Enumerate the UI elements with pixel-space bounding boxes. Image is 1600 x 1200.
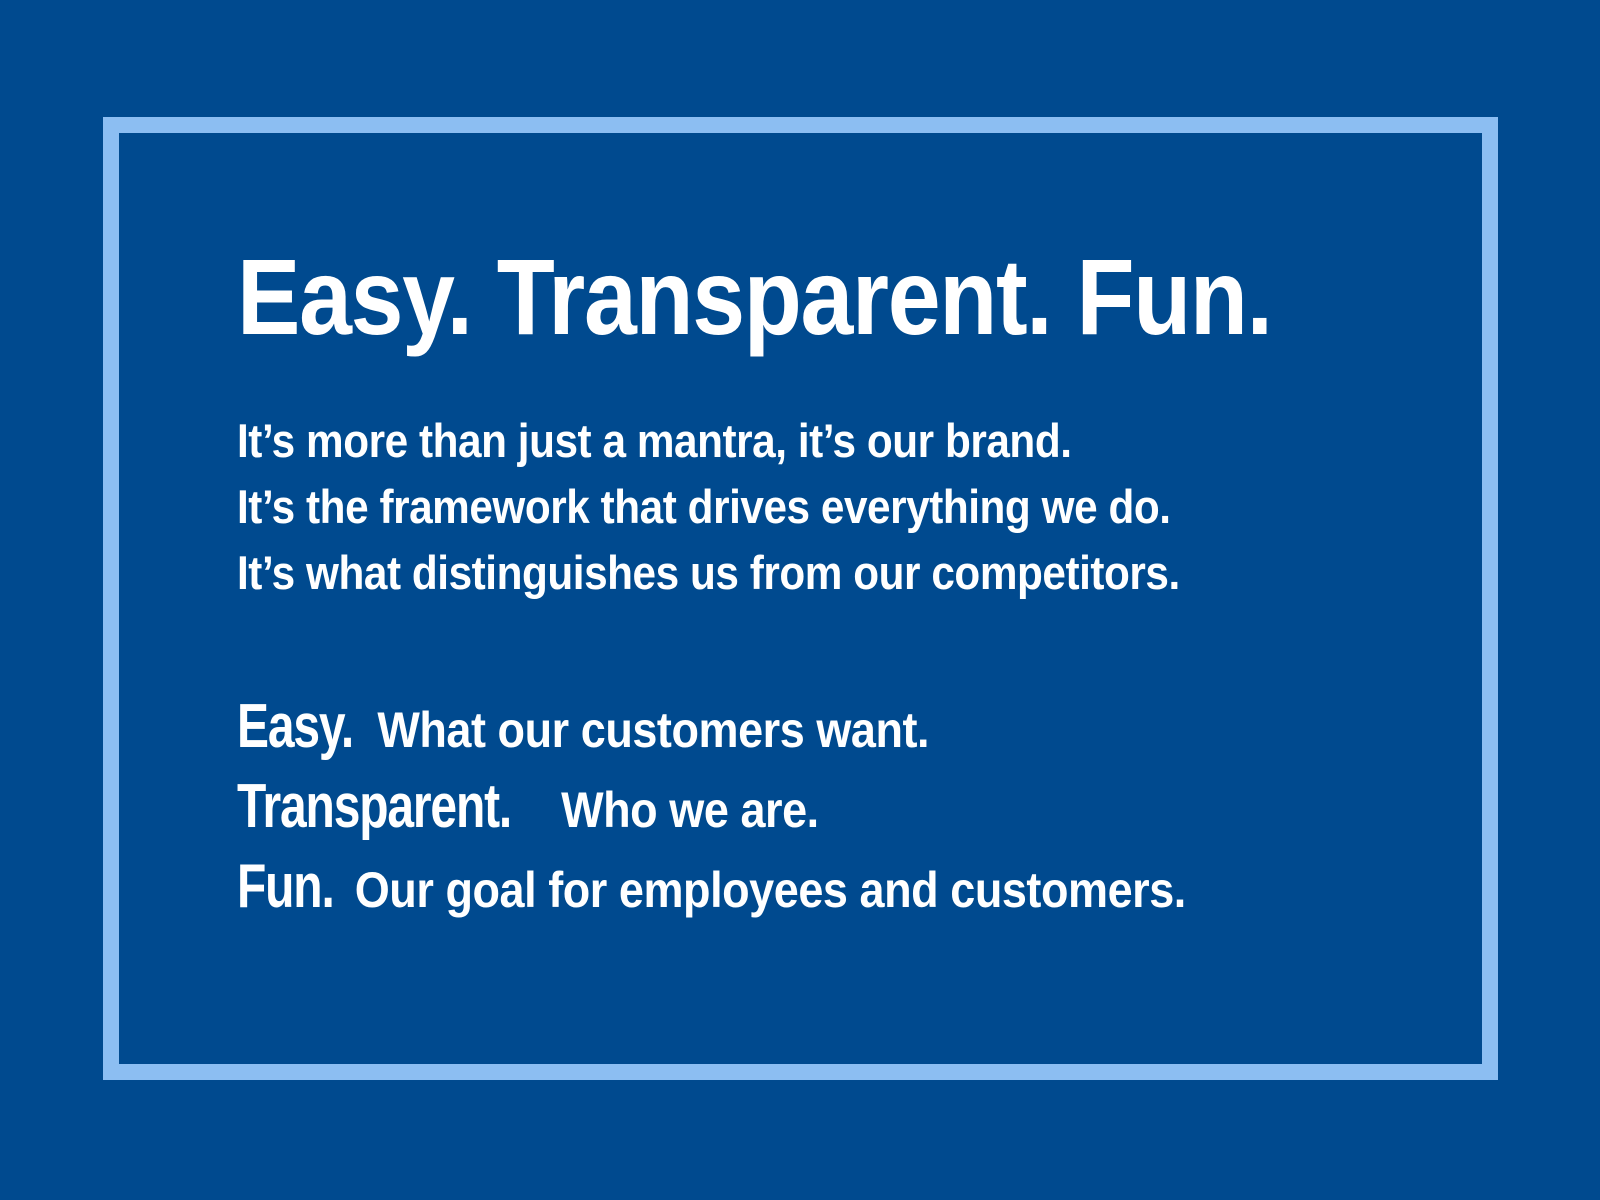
definition-description: Who we are. <box>561 770 819 850</box>
definition-term: Fun. <box>237 847 334 927</box>
definition-item: Fun.Our goal for employees and customers… <box>237 847 1186 927</box>
slide-canvas: Easy. Transparent. Fun. It’s more than j… <box>0 0 1600 1200</box>
page-title: Easy. Transparent. Fun. <box>237 243 1272 351</box>
intro-line: It’s what distinguishes us from our comp… <box>237 540 1180 606</box>
intro-line: It’s more than just a mantra, it’s our b… <box>237 408 1180 474</box>
definition-term: Easy. <box>237 687 353 767</box>
definition-item: Easy.What our customers want. <box>237 687 1186 767</box>
intro-paragraph: It’s more than just a mantra, it’s our b… <box>237 408 1285 606</box>
definition-description: What our customers want. <box>377 690 929 770</box>
intro-line: It’s the framework that drives everythin… <box>237 474 1180 540</box>
definition-term: Transparent. <box>237 767 511 847</box>
definition-description: Our goal for employees and customers. <box>355 850 1186 930</box>
definition-item: Transparent.Who we are. <box>237 767 1186 847</box>
definition-list: Easy.What our customers want. Transparen… <box>237 687 1291 927</box>
